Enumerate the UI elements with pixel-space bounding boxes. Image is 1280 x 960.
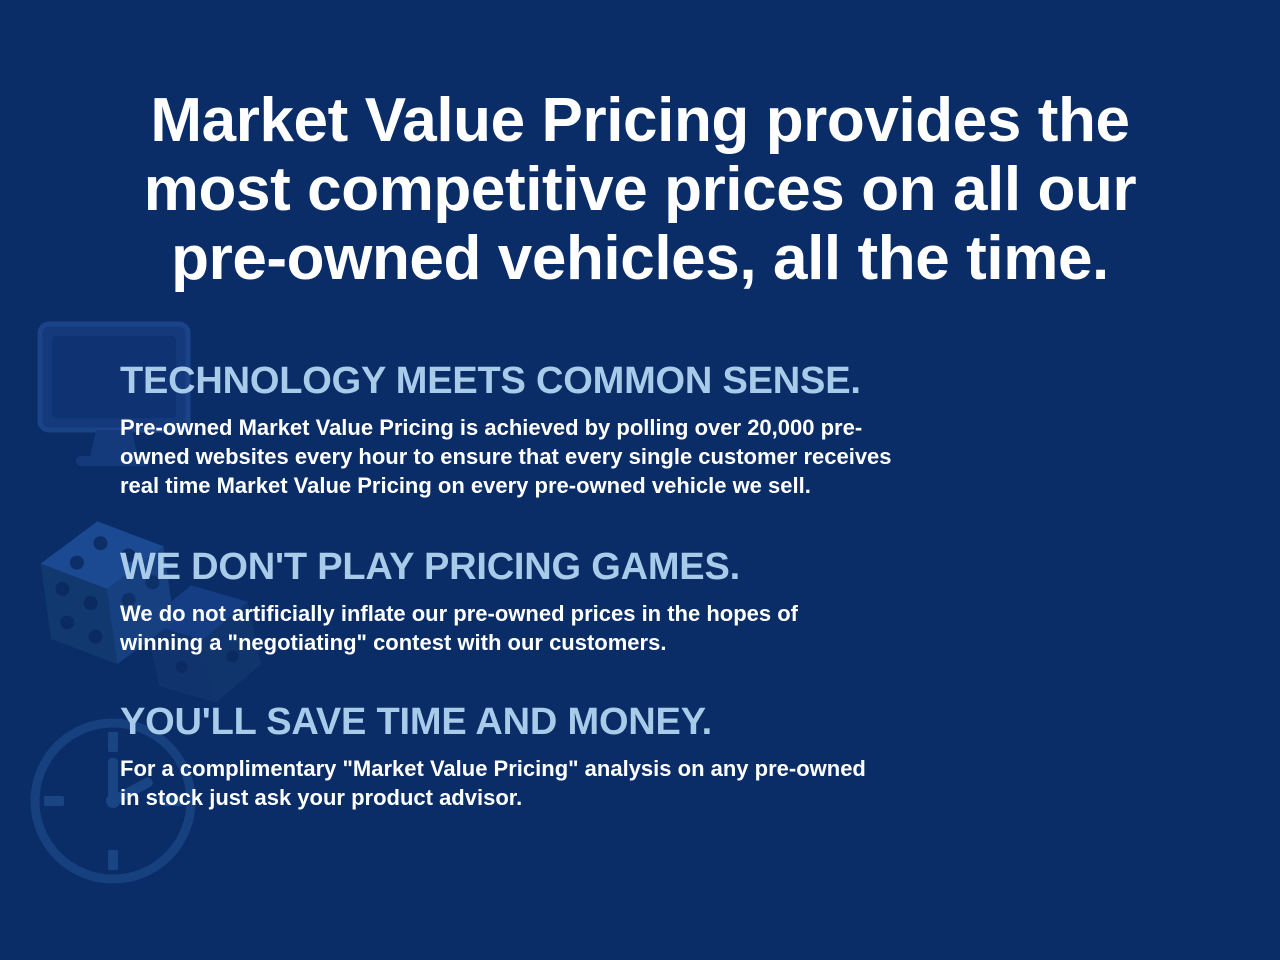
section-save-time-money: YOU'LL SAVE TIME AND MONEY. For a compli…	[120, 701, 1130, 812]
section-pricing-games: WE DON'T PLAY PRICING GAMES. We do not a…	[120, 546, 1130, 657]
headline-line-1: Market Value Pricing provides the	[60, 86, 1220, 155]
section-body-save-time-money: For a complimentary "Market Value Pricin…	[120, 754, 1100, 813]
section-heading-save-time-money: YOU'LL SAVE TIME AND MONEY.	[120, 701, 1130, 744]
headline-line-3: pre-owned vehicles, all the time.	[60, 224, 1220, 293]
section-body-pricing-games: We do not artificially inflate our pre-o…	[120, 599, 1100, 658]
section-body-line: real time Market Value Pricing on every …	[120, 471, 1100, 500]
section-technology: TECHNOLOGY MEETS COMMON SENSE. Pre-owned…	[120, 360, 1130, 500]
content-sections: TECHNOLOGY MEETS COMMON SENSE. Pre-owned…	[120, 360, 1130, 812]
section-body-line: in stock just ask your product advisor.	[120, 783, 1100, 812]
section-body-line: owned websites every hour to ensure that…	[120, 442, 1100, 471]
section-heading-pricing-games: WE DON'T PLAY PRICING GAMES.	[120, 546, 1130, 589]
headline-line-2: most competitive prices on all our	[60, 155, 1220, 224]
section-body-line: Pre-owned Market Value Pricing is achiev…	[120, 413, 1100, 442]
page-title: Market Value Pricing provides the most c…	[0, 86, 1280, 294]
section-body-line: winning a "negotiating" contest with our…	[120, 628, 1100, 657]
section-heading-technology: TECHNOLOGY MEETS COMMON SENSE.	[120, 360, 1130, 403]
section-body-technology: Pre-owned Market Value Pricing is achiev…	[120, 413, 1100, 501]
section-body-line: We do not artificially inflate our pre-o…	[120, 599, 1100, 628]
slide-canvas: Market Value Pricing provides the most c…	[0, 0, 1280, 960]
section-body-line: For a complimentary "Market Value Pricin…	[120, 754, 1100, 783]
